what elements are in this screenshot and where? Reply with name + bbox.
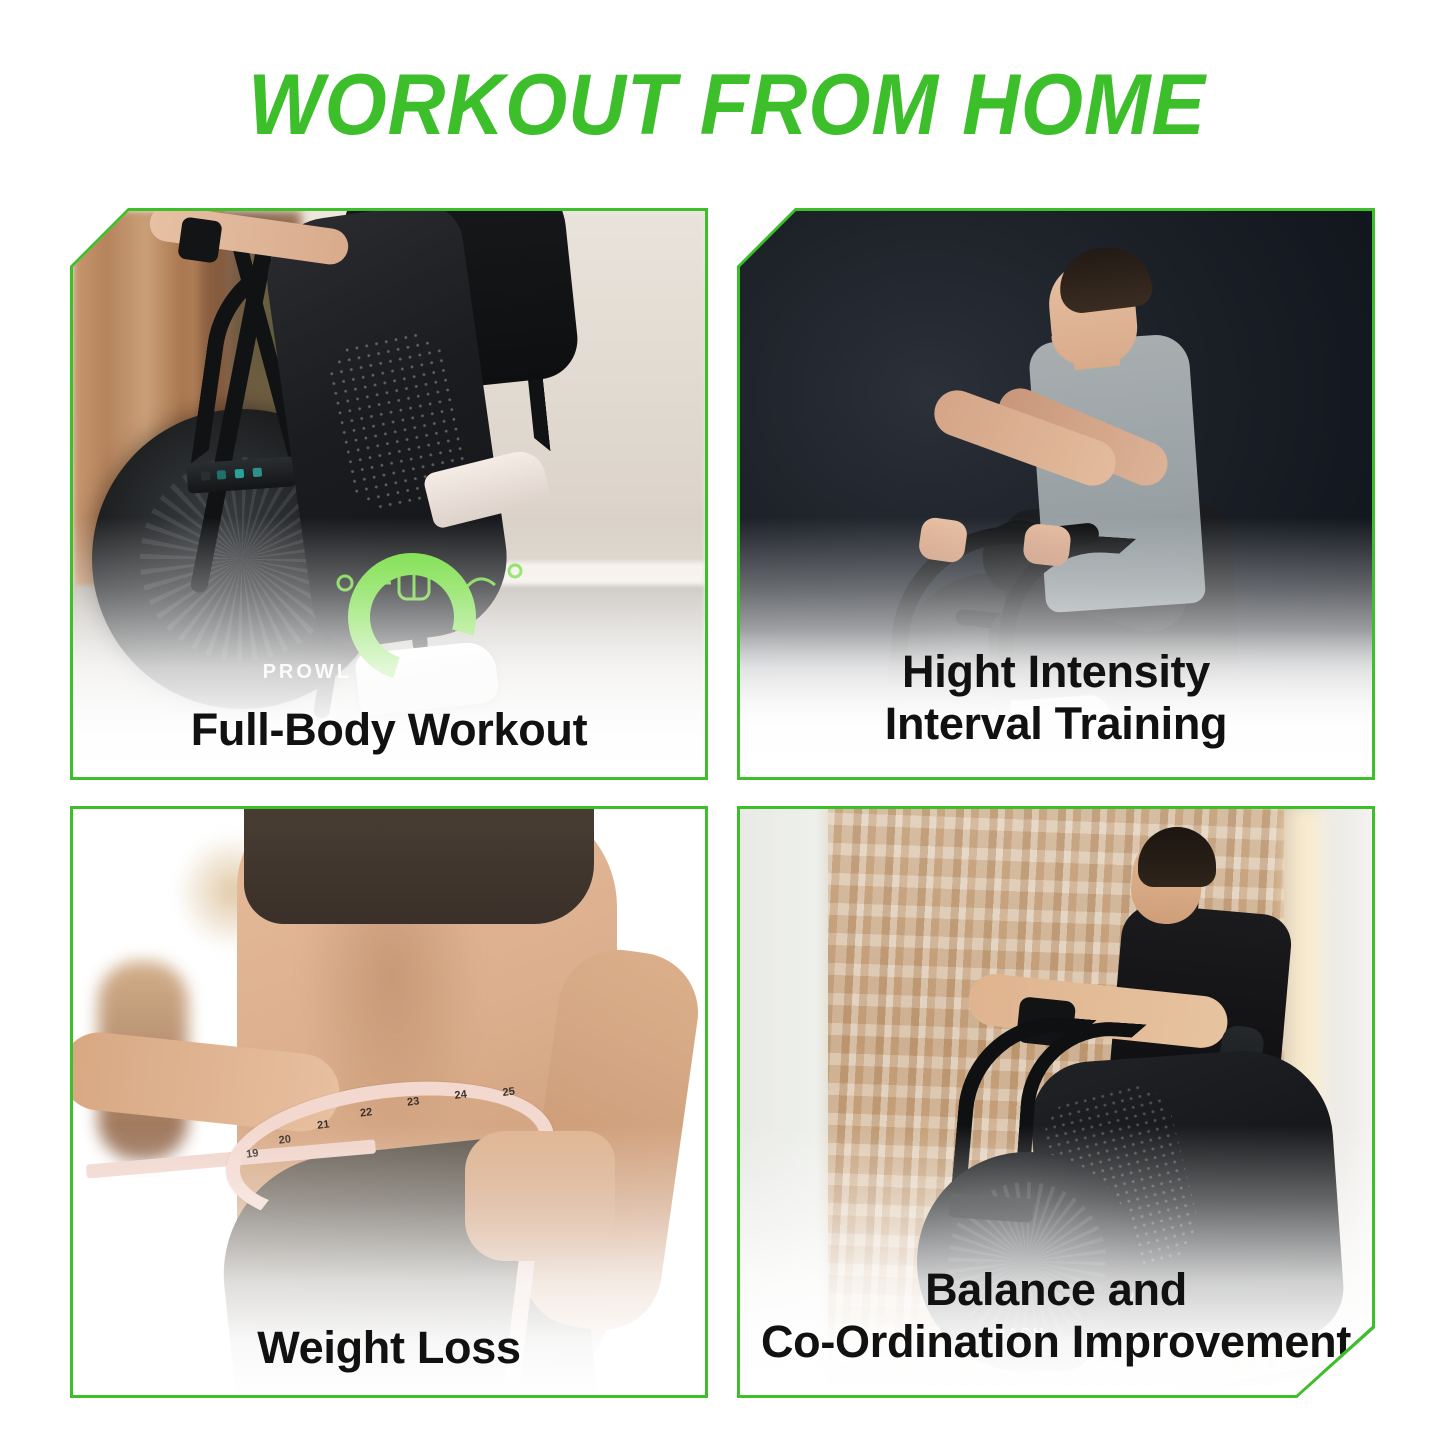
feature-grid: PROWL Full-Body Workout bbox=[70, 208, 1375, 1398]
svg-text:22: 22 bbox=[359, 1107, 373, 1120]
panel-full-body-workout[interactable]: PROWL Full-Body Workout bbox=[70, 208, 708, 780]
panel-2-inner: Hight Intensity Interval Training bbox=[740, 211, 1372, 777]
panel-3-photo: 19 20 21 22 23 24 25 bbox=[73, 809, 705, 1395]
panel-2-caption: Hight Intensity Interval Training bbox=[740, 646, 1372, 749]
panel-4-caption: Balance and Co-Ordination Improvement bbox=[740, 1264, 1372, 1367]
panel-2-caption-line-2: Interval Training bbox=[754, 698, 1358, 749]
svg-text:19: 19 bbox=[245, 1148, 259, 1161]
page-title: WORKOUT FROM HOME bbox=[248, 62, 1206, 148]
panel-1-photo: PROWL bbox=[73, 211, 705, 777]
panel-2-caption-line-1: Hight Intensity bbox=[754, 646, 1358, 697]
panel-1-caption-line-1: Full-Body Workout bbox=[87, 704, 691, 755]
panel-weight-loss[interactable]: 19 20 21 22 23 24 25 Weight Lo bbox=[70, 806, 708, 1398]
svg-text:25: 25 bbox=[502, 1086, 516, 1099]
panel-4-inner: MACH Balance and Co-Ordination Improveme… bbox=[740, 809, 1372, 1395]
panel-balance-and-coordination[interactable]: MACH Balance and Co-Ordination Improveme… bbox=[737, 806, 1375, 1398]
panel-3-caption: Weight Loss bbox=[73, 1322, 705, 1373]
panel-hight-intensity-interval-training[interactable]: Hight Intensity Interval Training bbox=[737, 208, 1375, 780]
page-title-bar: WORKOUT FROM HOME bbox=[0, 62, 1445, 148]
svg-text:21: 21 bbox=[316, 1119, 330, 1132]
svg-text:24: 24 bbox=[454, 1089, 468, 1103]
panel-4-caption-line-1: Balance and bbox=[754, 1264, 1358, 1315]
panel-4-caption-line-2: Co-Ordination Improvement bbox=[754, 1316, 1358, 1367]
panel-1-caption: Full-Body Workout bbox=[73, 704, 705, 755]
brand-logo-prowl: PROWL bbox=[263, 661, 352, 684]
panel-1-inner: PROWL Full-Body Workout bbox=[73, 211, 705, 777]
panel-3-inner: 19 20 21 22 23 24 25 Weight Lo bbox=[73, 809, 705, 1395]
svg-text:23: 23 bbox=[406, 1096, 420, 1109]
panel-3-caption-line-1: Weight Loss bbox=[87, 1322, 691, 1373]
workout-from-home-infographic: WORKOUT FROM HOME bbox=[0, 0, 1445, 1445]
svg-text:20: 20 bbox=[278, 1134, 292, 1147]
